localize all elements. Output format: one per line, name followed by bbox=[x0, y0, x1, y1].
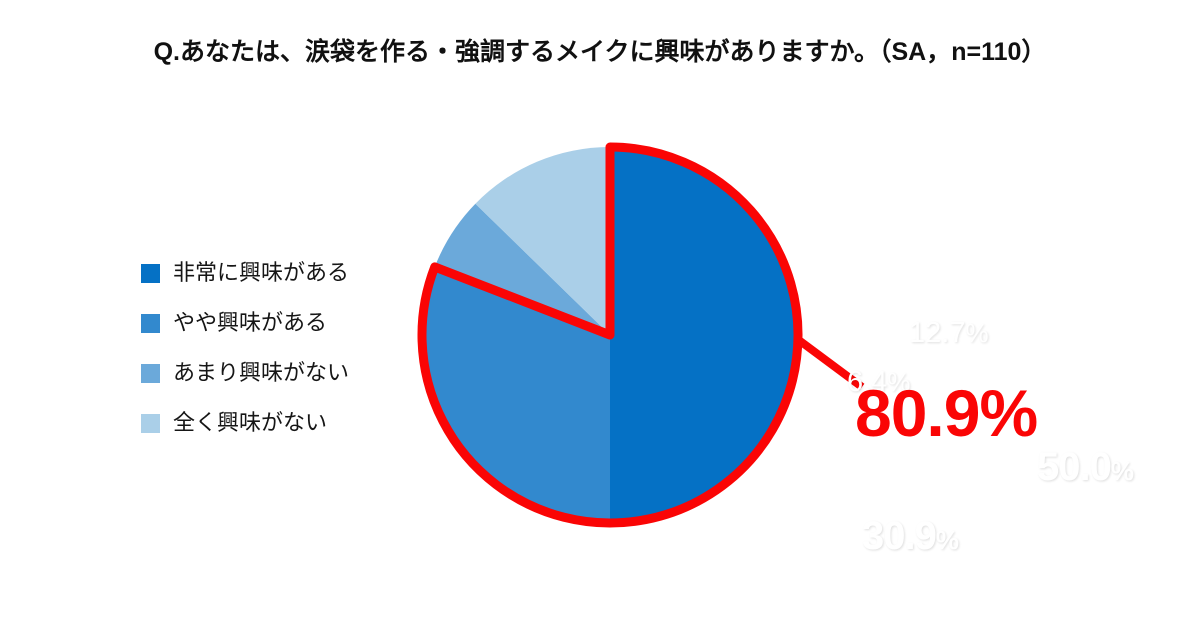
slice-value-label: 12.7% bbox=[909, 319, 989, 348]
slice-value-unit: % bbox=[936, 525, 959, 555]
pie-slice[interactable] bbox=[610, 147, 798, 523]
chart-page: Q.あなたは、涙袋を作る・強調するメイクに興味がありますか。（SA，n=110）… bbox=[0, 0, 1200, 630]
legend-item[interactable]: 全く興味がない bbox=[141, 398, 391, 448]
pie-chart-svg bbox=[400, 125, 830, 545]
slice-value-number: 12.7 bbox=[909, 317, 965, 349]
legend-item-label: 全く興味がない bbox=[173, 412, 327, 434]
slice-value-label: 50.0% bbox=[1037, 447, 1134, 487]
legend-item[interactable]: あまり興味がない bbox=[141, 348, 391, 398]
slice-value-number: 50.0 bbox=[1037, 445, 1111, 489]
callout-unit: % bbox=[979, 376, 1037, 450]
callout-number: 80.9 bbox=[855, 376, 979, 450]
slice-value-label: 30.9% bbox=[862, 516, 959, 556]
slice-value-unit: % bbox=[1111, 456, 1134, 486]
legend: 非常に興味がある やや興味がある あまり興味がない 全く興味がない bbox=[141, 248, 391, 448]
pie-chart: 50.0% 30.9% 6.4% 12.7% bbox=[400, 125, 830, 545]
callout-total-value: 80.9% bbox=[855, 380, 1037, 446]
legend-item[interactable]: 非常に興味がある bbox=[141, 248, 391, 298]
page-title: Q.あなたは、涙袋を作る・強調するメイクに興味がありますか。（SA，n=110） bbox=[0, 32, 1200, 68]
legend-swatch-icon bbox=[141, 264, 160, 283]
legend-item-label: 非常に興味がある bbox=[173, 262, 349, 284]
legend-item-label: あまり興味がない bbox=[173, 362, 349, 384]
legend-item[interactable]: やや興味がある bbox=[141, 298, 391, 348]
legend-swatch-icon bbox=[141, 364, 160, 383]
legend-swatch-icon bbox=[141, 314, 160, 333]
slice-value-unit: % bbox=[965, 318, 988, 348]
legend-item-label: やや興味がある bbox=[173, 312, 327, 334]
slice-value-number: 30.9 bbox=[862, 514, 936, 558]
legend-swatch-icon bbox=[141, 414, 160, 433]
